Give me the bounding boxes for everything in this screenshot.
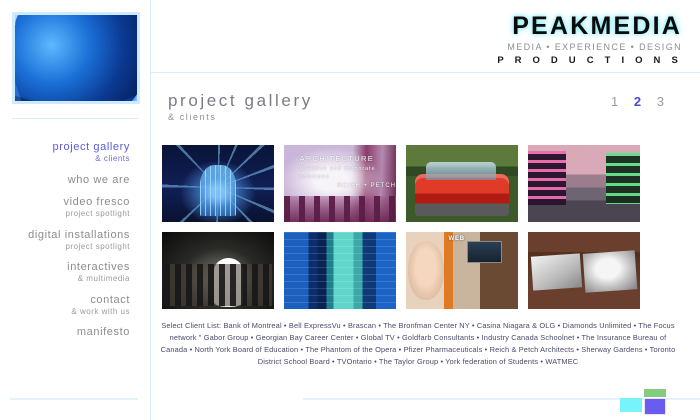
page-link-2[interactable]: 2	[634, 94, 642, 109]
header-divider	[151, 72, 700, 73]
brand-tagline: MEDIA • EXPERIENCE • DESIGN	[497, 43, 682, 52]
brand-logo[interactable]: PEAKMEDIA MEDIA • EXPERIENCE • DESIGN P …	[497, 14, 682, 66]
main-content: PEAKMEDIA MEDIA • EXPERIENCE • DESIGN P …	[151, 0, 700, 420]
sidebar-item-label: video fresco	[0, 197, 130, 209]
thumb-caption-brand: REICH + PETCH	[300, 182, 396, 192]
thumb-caption-web: WEB	[449, 236, 465, 242]
sidebar-item-manifesto[interactable]: manifesto	[0, 327, 140, 339]
swatch-green	[644, 389, 666, 397]
sidebar-item-who-we-are[interactable]: who we are	[0, 175, 140, 187]
gallery-thumb-illuminated-tower[interactable]	[160, 143, 276, 224]
thumbnail-row: WEB	[160, 230, 690, 311]
sidebar-nav: project gallery & clients who we are vid…	[0, 142, 140, 350]
brand-productions: P R O D U C T I O N S	[497, 56, 682, 66]
sidebar-item-label: who we are	[0, 175, 130, 187]
left-divider	[12, 118, 138, 119]
page-link-3[interactable]: 3	[657, 94, 665, 109]
client-list: Select Client List: Bank of Montreal • B…	[157, 320, 679, 368]
hero-image-frame	[12, 12, 140, 104]
sidebar-item-sublabel: project spotlight	[0, 210, 130, 219]
thumbnail-grid: ARCHITECTURE Creative and corporate solu…	[160, 143, 690, 317]
left-column: project gallery & clients who we are vid…	[0, 0, 151, 420]
thumb-caption-heading: ARCHITECTURE	[300, 154, 374, 163]
thumb-caption: ARCHITECTURE Creative and corporate solu…	[300, 153, 396, 192]
gallery-thumb-opera-stage[interactable]	[160, 230, 276, 311]
thumbnail-row: ARCHITECTURE Creative and corporate solu…	[160, 143, 690, 224]
sidebar-item-video-fresco[interactable]: video fresco project spotlight	[0, 197, 140, 219]
gallery-thumb-web-interior[interactable]: WEB	[404, 230, 520, 311]
swatch-cyan	[620, 398, 642, 412]
gallery-thumb-portrait-panels[interactable]	[526, 230, 642, 311]
sidebar-item-interactives[interactable]: interactives & multimedia	[0, 262, 140, 284]
brand-name: PEAKMEDIA	[497, 14, 682, 39]
sidebar-item-label: digital installations	[0, 230, 130, 242]
sidebar-item-project-gallery[interactable]: project gallery & clients	[0, 142, 140, 164]
sidebar-item-sublabel: & clients	[0, 155, 130, 164]
gallery-thumb-architecture[interactable]: ARCHITECTURE Creative and corporate solu…	[282, 143, 398, 224]
sidebar-item-label: contact	[0, 295, 130, 307]
gallery-thumb-red-convertible[interactable]	[404, 143, 520, 224]
sidebar-item-digital-installations[interactable]: digital installations project spotlight	[0, 230, 140, 252]
sidebar-item-sublabel: & work with us	[0, 308, 130, 317]
pagination: 1 2 3	[601, 94, 665, 109]
sidebar-item-label: interactives	[0, 262, 130, 274]
sidebar-item-sublabel: & multimedia	[0, 275, 130, 284]
page-link-1[interactable]: 1	[611, 94, 619, 109]
site-header: PEAKMEDIA MEDIA • EXPERIENCE • DESIGN P …	[151, 0, 700, 72]
page-root: project gallery & clients who we are vid…	[0, 0, 700, 420]
footer-divider-left	[10, 398, 138, 400]
gallery-thumb-neon-street[interactable]	[526, 143, 642, 224]
sidebar-item-contact[interactable]: contact & work with us	[0, 295, 140, 317]
blue-truss-image	[15, 15, 137, 101]
page-title-row: project gallery & clients 1 2 3	[168, 92, 683, 122]
sidebar-item-sublabel: project spotlight	[0, 243, 130, 252]
sidebar-item-label: manifesto	[0, 327, 130, 339]
page-subtitle: & clients	[168, 113, 683, 122]
swatch-purple	[644, 398, 666, 415]
gallery-thumb-blue-teal-panels[interactable]	[282, 230, 398, 311]
sidebar-item-label: project gallery	[0, 142, 130, 154]
thumb-caption-sub: Creative and corporate solutions	[300, 166, 376, 181]
